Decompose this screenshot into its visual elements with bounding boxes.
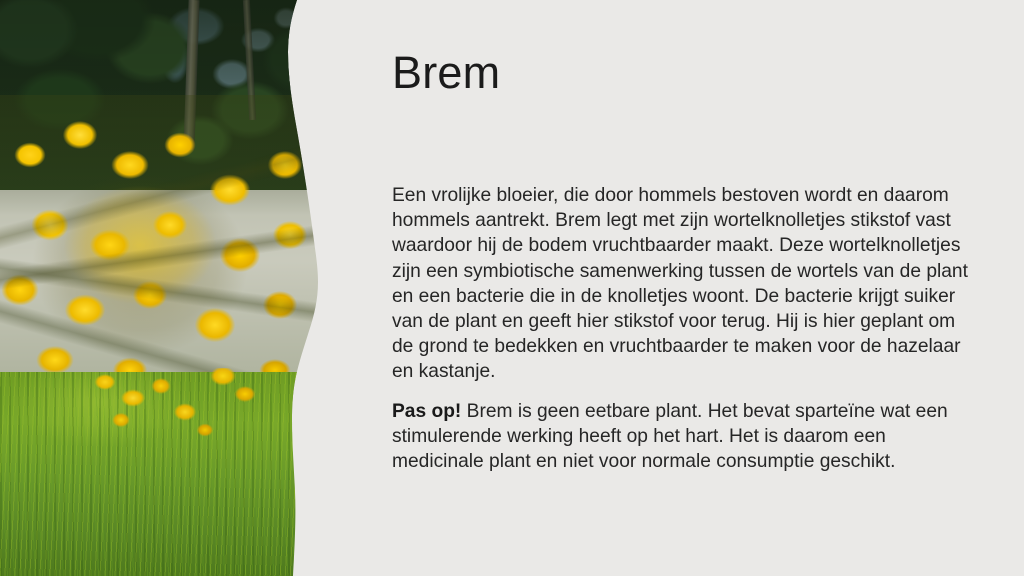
broom-shrub-photo [0, 0, 330, 576]
paragraph-description-text: Een vrolijke bloeier, die door hommels b… [392, 185, 968, 382]
warning-lead-label: Pas op! [392, 401, 461, 422]
text-column: Brem Een vrolijke bloeier, die door homm… [392, 0, 972, 576]
paragraph-description: Een vrolijke bloeier, die door hommels b… [392, 183, 970, 385]
photo-tone-overlay [0, 0, 330, 576]
body-text-block: Een vrolijke bloeier, die door hommels b… [392, 183, 970, 474]
photo-panel [0, 0, 330, 576]
paragraph-warning-text: Brem is geen eetbare plant. Het bevat sp… [392, 401, 948, 472]
slide-title: Brem [392, 48, 500, 98]
paragraph-warning: Pas op! Brem is geen eetbare plant. Het … [392, 399, 970, 475]
presentation-slide: Brem Een vrolijke bloeier, die door homm… [0, 0, 1024, 576]
